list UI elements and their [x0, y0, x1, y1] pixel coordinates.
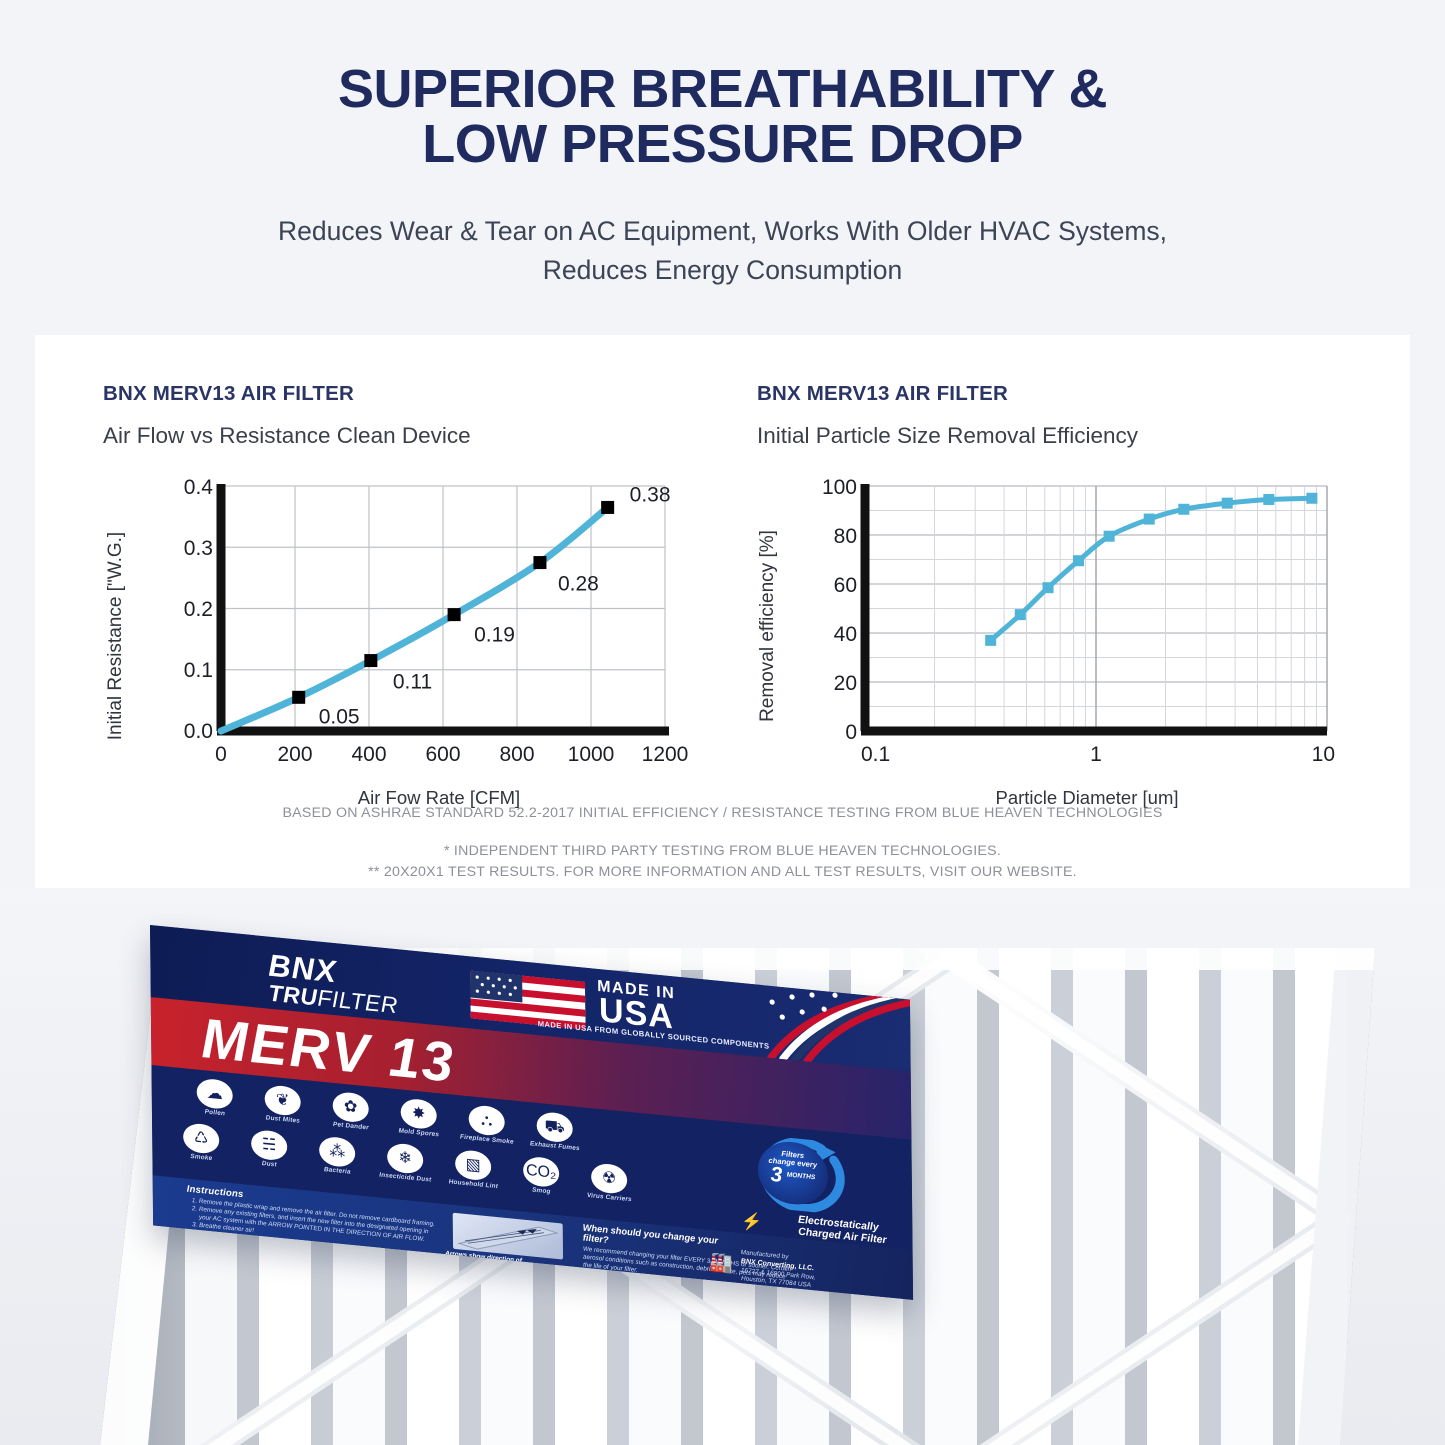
data-point — [1043, 582, 1054, 593]
chart-left-ytick-1: 0.1 — [184, 659, 213, 682]
bacteria-icon: ⁂ — [319, 1136, 355, 1169]
data-point — [1222, 498, 1233, 509]
smoke-icon: ♺ — [183, 1122, 219, 1155]
dust-icon: ☵ — [251, 1129, 287, 1162]
data-point-label: 0.05 — [319, 705, 360, 728]
data-point — [1263, 494, 1274, 505]
data-point — [1306, 493, 1317, 504]
chart-right-ytick-20: 20 — [834, 672, 857, 695]
dust-mites-icon: ❦ — [265, 1084, 301, 1117]
filtration-icon-label: Virus Carriers — [582, 1192, 636, 1204]
data-point — [1073, 555, 1084, 566]
xtick-label: 0 — [215, 743, 227, 766]
lightning-bolt-icon: ⚡ — [741, 1211, 762, 1233]
filtration-icon-label: Pollen — [188, 1108, 242, 1120]
header-section: SUPERIOR BREATHABILITY & LOW PRESSURE DR… — [0, 0, 1445, 289]
chart-right-markers — [985, 493, 1317, 646]
headline-line-2: LOW PRESSURE DROP — [0, 117, 1445, 172]
chart-left-plot: Initial Resistance ["W.G.] 0.4 — [103, 476, 723, 776]
filtration-icon-label: Fireplace Smoke — [460, 1134, 514, 1146]
disclaimer-block: BASED ON ASHRAE STANDARD 52.2-2017 INITI… — [0, 806, 1445, 880]
chart-left-ylabel: Initial Resistance ["W.G.] — [105, 532, 126, 740]
exhaust-fumes-icon: ⛟ — [537, 1111, 573, 1144]
brand-tru: TRU — [268, 980, 317, 1011]
chart-right-brand-title: BNX MERV13 AIR FILTER — [757, 382, 1397, 406]
data-point — [364, 654, 377, 667]
chart-right-plot: Removal efficiency [%] 100 80 60 40 20 0… — [757, 476, 1377, 776]
insecticide-dust-icon: ❄ — [387, 1142, 423, 1175]
chart-right-ytick-60: 60 — [834, 574, 857, 597]
filtration-icon-label: Dust — [242, 1159, 296, 1171]
data-point-label: 0.11 — [393, 671, 432, 694]
chart-left-point-labels: 0.050.110.190.280.38 — [319, 483, 671, 728]
data-point-label: 0.28 — [558, 573, 599, 596]
filtration-icon-label: Insecticide Dust — [378, 1172, 432, 1184]
filtration-icon-cell: ♺Smoke — [174, 1121, 228, 1164]
chart-left-ytick-2: 0.2 — [184, 598, 213, 621]
disclaimer-main: BASED ON ASHRAE STANDARD 52.2-2017 INITI… — [0, 806, 1445, 820]
pollen-icon: ☁ — [197, 1078, 233, 1111]
disclaimer-note-1: * INDEPENDENT THIRD PARTY TESTING FROM B… — [0, 844, 1445, 858]
page-subheadline: Reduces Wear & Tear on AC Equipment, Wor… — [0, 212, 1445, 289]
product-photo: BNX TRUFILTER — [0, 888, 1445, 1445]
filtration-icon-cell: ☢Virus Carriers — [582, 1161, 636, 1204]
chart-left-svg: Initial Resistance ["W.G.] 0.4 — [103, 476, 723, 776]
replace-interval-badge: Filters change every 3 MONTHS — [752, 1134, 861, 1217]
change-heading-line-2: filter? — [583, 1233, 609, 1246]
xtick-label: 400 — [351, 743, 386, 766]
filtration-icon-cell: ❄Insecticide Dust — [378, 1141, 432, 1184]
filtration-icon-label: Bacteria — [310, 1166, 364, 1178]
fireplace-smoke-icon: ⛬ — [469, 1104, 505, 1137]
data-point — [1104, 531, 1115, 542]
chart-right-title: Initial Particle Size Removal Efficiency — [757, 423, 1397, 449]
chart-right-ytick-0: 0 — [845, 721, 857, 744]
pet-dander-icon: ✿ — [333, 1091, 369, 1124]
chart-left-brand-title: BNX MERV13 AIR FILTER — [103, 382, 743, 406]
chart-left-ytick-4: 0.4 — [184, 476, 214, 499]
xtick-label: 1200 — [642, 743, 689, 766]
chart-left-ytick-3: 0.3 — [184, 537, 213, 560]
filtration-icon-label: Exhaust Fumes — [528, 1141, 582, 1153]
factory-icon: 🏭 — [709, 1250, 733, 1276]
filtration-icon-cell: ✿Pet Dander — [324, 1090, 378, 1133]
filtration-icon-cell: ⛟Exhaust Fumes — [528, 1110, 582, 1153]
subheadline-line-1: Reduces Wear & Tear on AC Equipment, Wor… — [278, 216, 1167, 246]
chart-right-ytick-100: 100 — [822, 476, 857, 499]
data-point — [448, 608, 461, 621]
filtration-icon-cell: ✸Mold Spores — [392, 1097, 446, 1140]
data-point — [601, 501, 614, 514]
xtick-label: 1000 — [568, 743, 615, 766]
chart-right-ylabel: Removal efficiency [%] — [757, 530, 778, 722]
headline-line-1: SUPERIOR BREATHABILITY & — [338, 59, 1107, 119]
data-point-label: 0.19 — [474, 624, 515, 647]
xtick-label: 800 — [499, 743, 534, 766]
filtration-icon-cell: ☁Pollen — [188, 1077, 242, 1120]
household-lint-icon: ▧ — [455, 1149, 491, 1182]
filtration-icon-cell: ☵Dust — [242, 1128, 296, 1171]
disclaimer-note-2: ** 20X20X1 TEST RESULTS. FOR MORE INFORM… — [0, 865, 1445, 879]
chart-right-ytick-80: 80 — [834, 525, 857, 548]
filtration-icon-label: Smoke — [174, 1152, 228, 1164]
filtration-icon-label: Pet Dander — [324, 1121, 378, 1133]
filtration-icon-cell: ❦Dust Mites — [256, 1083, 310, 1126]
filtration-icon-cell: ▧Household Lint — [446, 1148, 500, 1191]
page-headline: SUPERIOR BREATHABILITY & LOW PRESSURE DR… — [0, 62, 1445, 172]
chart-right-gridlines — [865, 486, 1327, 731]
data-point — [533, 556, 546, 569]
filtration-icon-label: Dust Mites — [256, 1114, 310, 1126]
chart-left-xticks: 020040060080010001200 — [215, 743, 688, 766]
filtration-icon-label: Smog — [514, 1186, 568, 1198]
badge-number: 3 — [770, 1166, 782, 1186]
chart-right-svg: Removal efficiency [%] 100 80 60 40 20 0… — [757, 476, 1377, 776]
mold-spores-icon: ✸ — [401, 1098, 437, 1131]
xtick-label: 200 — [277, 743, 312, 766]
filtration-icon-cell: ⁂Bacteria — [310, 1135, 364, 1178]
data-point — [292, 691, 305, 704]
data-point — [985, 635, 996, 646]
data-point — [1015, 609, 1026, 620]
chart-left-gridlines — [221, 486, 665, 731]
smog-icon: CO₂ — [523, 1156, 559, 1189]
brand-logo: BNX TRUFILTER — [268, 951, 398, 1018]
chart-left-ytick-0: 0.0 — [184, 720, 213, 743]
chart-left-title: Air Flow vs Resistance Clean Device — [103, 423, 743, 449]
badge-months: MONTHS — [787, 1171, 816, 1181]
subheadline-line-2: Reduces Energy Consumption — [0, 251, 1445, 289]
filtration-icon-label: Mold Spores — [392, 1128, 446, 1140]
data-point — [1144, 514, 1155, 525]
chart-right-ytick-40: 40 — [834, 623, 857, 646]
data-point-label: 0.38 — [630, 483, 671, 506]
virus-carriers-icon: ☢ — [591, 1162, 627, 1195]
filtration-icon-cell: CO₂Smog — [514, 1155, 568, 1198]
chart-left-series-line — [221, 507, 608, 731]
xtick-label: 0.1 — [861, 743, 890, 766]
chart-right-xticks: 0.1110 — [861, 743, 1335, 766]
xtick-label: 1 — [1090, 743, 1102, 766]
data-point — [1178, 504, 1189, 515]
filtration-icon-cell: ⛬Fireplace Smoke — [460, 1103, 514, 1146]
filtration-icon-label: Household Lint — [446, 1179, 500, 1191]
xtick-label: 600 — [425, 743, 460, 766]
xtick-label: 10 — [1312, 743, 1335, 766]
